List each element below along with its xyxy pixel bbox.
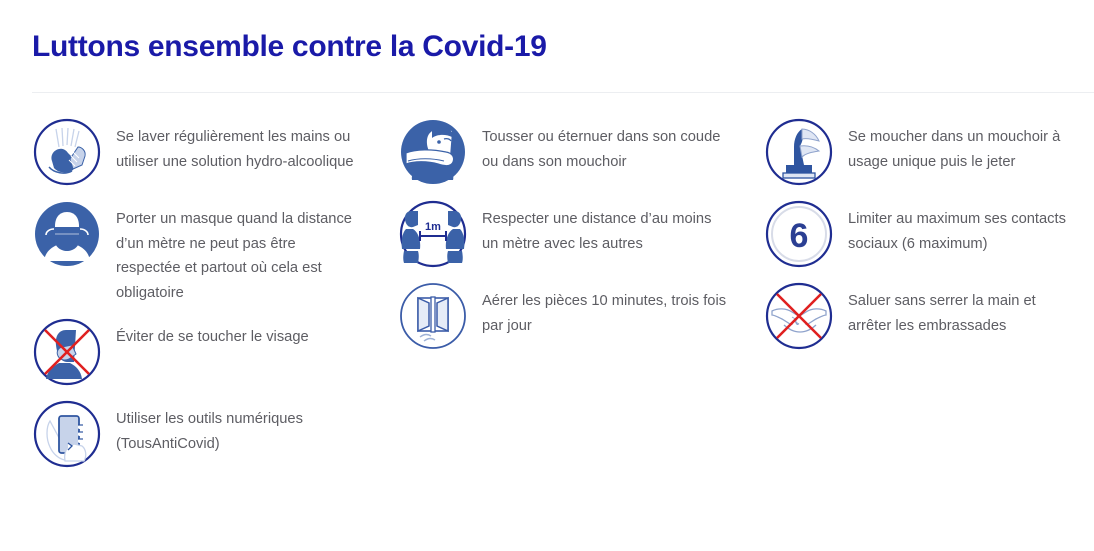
list-item-label: Tousser ou éternuer dans son coude ou da…: [482, 117, 727, 174]
header: Luttons ensemble contre la Covid-19: [0, 0, 1094, 93]
no-handshake-icon: [764, 281, 834, 351]
tissue-box-icon: [764, 117, 834, 187]
list-item: Se moucher dans un mouchoir à usage uniq…: [764, 117, 1094, 187]
cough-into-elbow-icon: [398, 117, 468, 187]
list-item: 6 Limiter au maximum ses contacts sociau…: [764, 199, 1094, 269]
list-item: Saluer sans serrer la main et arrêter le…: [764, 281, 1094, 351]
advice-columns: Se laver régulièrement les mains ou util…: [0, 93, 1094, 481]
hand-washing-icon: [32, 117, 102, 187]
list-item-label: Se moucher dans un mouchoir à usage uniq…: [848, 117, 1076, 174]
advice-column-2: Tousser ou éternuer dans son coude ou da…: [398, 117, 764, 481]
open-window-ventilation-icon: [398, 281, 468, 351]
list-item-label: Aérer les pièces 10 minutes, trois fois …: [482, 281, 727, 338]
list-item: Éviter de se toucher le visage: [32, 317, 398, 387]
poster-page: Luttons ensemble contre la Covid-19: [0, 0, 1094, 551]
list-item-label: Saluer sans serrer la main et arrêter le…: [848, 281, 1076, 338]
list-item: Aérer les pièces 10 minutes, trois fois …: [398, 281, 764, 351]
number-label: 6: [790, 217, 809, 255]
no-face-touching-icon: [32, 317, 102, 387]
list-item: Porter un masque quand la distance d’un …: [32, 199, 398, 305]
list-item-label: Se laver régulièrement les mains ou util…: [116, 117, 361, 174]
list-item: 1m Respecter une distance d’au moins un …: [398, 199, 764, 269]
distance-label: 1m: [425, 221, 441, 233]
advice-column-3: Se moucher dans un mouchoir à usage uniq…: [764, 117, 1094, 481]
list-item: Tousser ou éternuer dans son coude ou da…: [398, 117, 764, 187]
list-item: Se laver régulièrement les mains ou util…: [32, 117, 398, 187]
list-item-label: Utiliser les outils numériques (TousAnti…: [116, 399, 361, 456]
list-item: Utiliser les outils numériques (TousAnti…: [32, 399, 398, 469]
social-distance-icon: 1m: [398, 199, 468, 269]
list-item-label: Éviter de se toucher le visage: [116, 317, 309, 350]
page-title: Luttons ensemble contre la Covid-19: [32, 28, 1094, 66]
number-six-icon: 6: [764, 199, 834, 269]
face-mask-icon: [32, 199, 102, 269]
smartphone-app-icon: [32, 399, 102, 469]
list-item-label: Limiter au maximum ses contacts sociaux …: [848, 199, 1076, 256]
list-item-label: Respecter une distance d’au moins un mèt…: [482, 199, 727, 256]
advice-column-1: Se laver régulièrement les mains ou util…: [32, 117, 398, 481]
list-item-label: Porter un masque quand la distance d’un …: [116, 199, 361, 305]
